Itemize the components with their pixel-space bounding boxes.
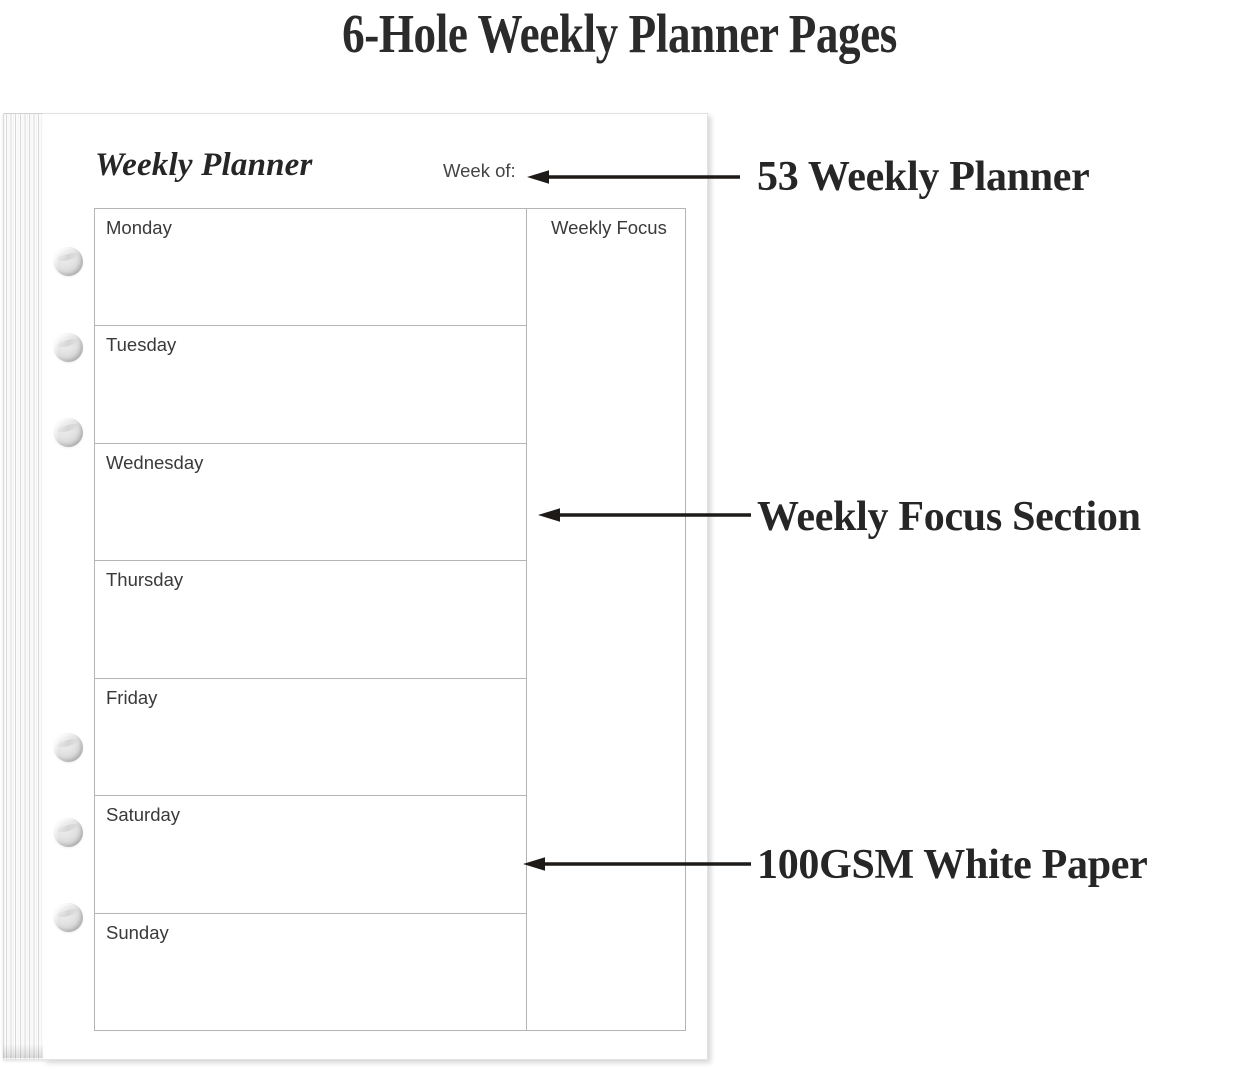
day-cell-wednesday[interactable]: Wednesday [95,444,526,561]
day-label: Friday [106,686,157,710]
day-cell-sunday[interactable]: Sunday [95,914,526,1030]
binder-hole-3 [54,418,83,447]
day-label: Tuesday [106,333,176,357]
week-of-label: Week of: [443,159,516,183]
planner-grid: Monday Tuesday Wednesday Thursday Friday… [94,208,686,1031]
day-label: Monday [106,216,172,240]
day-label: Thursday [106,568,183,592]
page-title: 6-Hole Weekly Planner Pages [112,2,1128,66]
binder-hole-5 [54,818,83,847]
day-cell-tuesday[interactable]: Tuesday [95,326,526,443]
callout-label-1: 53 Weekly Planner [757,152,1089,202]
weekly-focus-column[interactable]: Weekly Focus [526,208,686,1031]
binder-hole-6 [54,903,83,932]
days-column: Monday Tuesday Wednesday Thursday Friday… [94,208,526,1031]
day-cell-friday[interactable]: Friday [95,679,526,796]
day-cell-saturday[interactable]: Saturday [95,796,526,913]
callout-label-3: 100GSM White Paper [757,840,1147,890]
day-label: Wednesday [106,451,203,475]
day-cell-thursday[interactable]: Thursday [95,561,526,678]
paper-stack-edge [3,113,45,1059]
binder-hole-2 [54,333,83,362]
planner-title: Weekly Planner [95,145,313,185]
binder-hole-4 [54,733,83,762]
binder-hole-1 [54,247,83,276]
day-label: Sunday [106,921,169,945]
day-cell-monday[interactable]: Monday [95,209,526,326]
weekly-focus-label: Weekly Focus [551,216,667,240]
callout-label-2: Weekly Focus Section [757,492,1141,542]
day-label: Saturday [106,803,180,827]
